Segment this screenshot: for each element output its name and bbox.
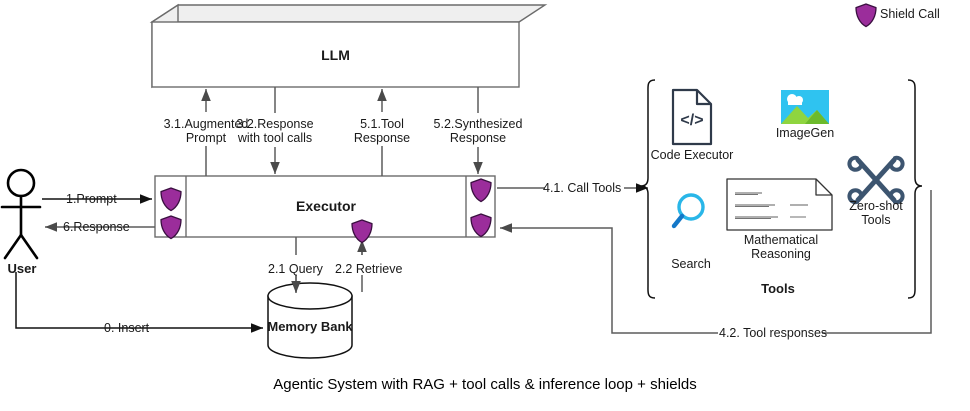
edge-label-response: 6.Response (63, 220, 130, 234)
shield-icon-executor-in-2 (161, 216, 181, 239)
edge-label-response-tool-calls-line2: with tool calls (222, 131, 328, 145)
tools-group-label: Tools (728, 282, 828, 296)
user-actor (2, 170, 40, 258)
edge-label-synthesized-response-line2: Response (425, 131, 531, 145)
diagram-canvas: </> (0, 0, 970, 411)
edge-label-query: 2.1 Query (268, 262, 323, 276)
edge-label-synthesized-response-line1: 5.2.Synthesized (425, 117, 531, 131)
shield-icon-legend (856, 4, 876, 27)
llm-node (152, 5, 545, 87)
crossed-wrenches-icon (849, 158, 902, 202)
edge-label-prompt: 1.Prompt (66, 192, 117, 206)
user-label: User (0, 262, 44, 276)
code-document-icon: </> (673, 90, 711, 144)
edge-label-tool-responses: 4.2. Tool responses (719, 326, 827, 340)
svg-text:</>: </> (680, 112, 703, 129)
tool-label-imagegen: ImageGen (763, 126, 847, 140)
edge-label-call-tools: 4.1. Call Tools (543, 181, 621, 195)
tool-label-mathematical-reasoning: Mathematical Reasoning (731, 233, 831, 261)
formula-note-icon (727, 179, 832, 230)
tool-label-zero-shot-tools: Zero-shot Tools (843, 199, 909, 227)
magnifier-icon (674, 195, 703, 226)
edge-label-insert: 0. Insert (104, 321, 149, 335)
shield-icon-executor-memory (352, 220, 372, 243)
edge-label-tool-response-line2: Response (340, 131, 424, 145)
legend-shield-label: Shield Call (880, 7, 940, 21)
shield-icon-executor-out-2 (471, 214, 491, 237)
edge-label-tool-response-line1: 5.1.Tool (340, 117, 424, 131)
edge-insert (16, 272, 263, 328)
edge-label-retrieve: 2.2 Retrieve (335, 262, 402, 276)
edge-label-response-tool-calls-line1: 3.2.Response (222, 117, 328, 131)
tool-label-code-executor: Code Executor (645, 148, 739, 162)
executor-label: Executor (186, 199, 466, 213)
shield-icon-executor-in-1 (161, 188, 181, 211)
tool-label-search: Search (660, 257, 722, 271)
memory-bank-label: Memory Bank (262, 320, 358, 334)
image-picture-icon (781, 90, 829, 124)
llm-label: LLM (152, 48, 519, 62)
diagram-caption: Agentic System with RAG + tool calls & i… (0, 376, 970, 393)
shield-icon-executor-out-1 (471, 179, 491, 202)
